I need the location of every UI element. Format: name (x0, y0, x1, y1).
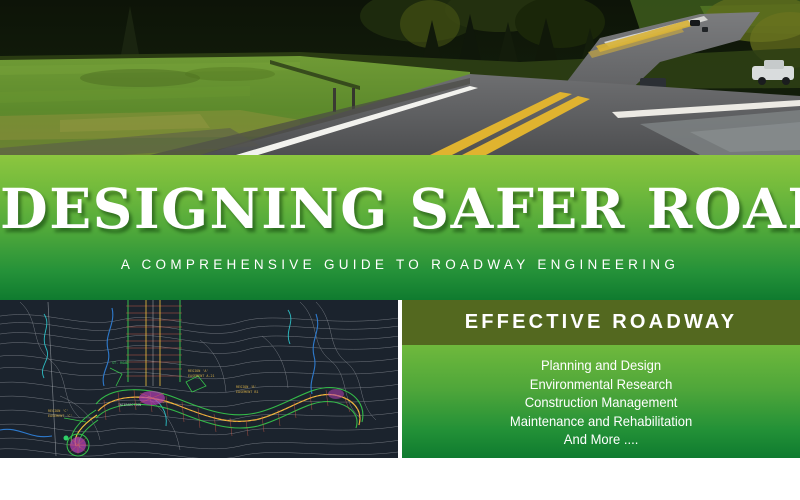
svg-text:REGION 'C': REGION 'C' (48, 409, 68, 413)
panel-service-list: Planning and Design Environmental Resear… (402, 345, 800, 458)
svg-text:REGION 'B': REGION 'B' (236, 385, 256, 389)
list-item: Planning and Design (510, 356, 692, 375)
svg-text:REGION 'A': REGION 'A' (188, 369, 208, 373)
svg-text:EASEMENT A-21: EASEMENT A-21 (188, 374, 215, 378)
svg-text:EASEMENT 'C': EASEMENT 'C' (48, 414, 73, 418)
panel-heading-text: EFFECTIVE ROADWAY (465, 311, 738, 334)
cad-drawing-illustration: REGION 'A' EASEMENT A-21 REGION 'B' EASE… (0, 300, 402, 458)
hero-photo (0, 0, 800, 155)
list-item: Environmental Research (510, 375, 692, 394)
effective-roadway-panel: EFFECTIVE ROADWAY Planning and Design En… (402, 300, 800, 458)
page-subtitle: A COMPREHENSIVE GUIDE TO ROADWAY ENGINEE… (0, 257, 800, 272)
list-item: And More .... (510, 430, 692, 449)
title-band: DESIGNING SAFER ROADS A COMPREHENSIVE GU… (0, 155, 800, 300)
svg-text:ST. ROAD: ST. ROAD (112, 361, 128, 365)
svg-text:EASEMENT B1: EASEMENT B1 (236, 390, 258, 394)
svg-text:INTERSECTION: INTERSECTION (118, 403, 141, 407)
poster-root: DESIGNING SAFER ROADS A COMPREHENSIVE GU… (0, 0, 800, 500)
roadway-alignment-map: REGION 'A' EASEMENT A-21 REGION 'B' EASE… (0, 300, 402, 458)
footer: Brigen Consulting Achieve Success Togeth… (0, 458, 800, 500)
list-item: Construction Management (510, 393, 692, 412)
panel-heading-bar: EFFECTIVE ROADWAY (402, 300, 800, 345)
hero-photo-illustration (0, 0, 800, 155)
service-list: Planning and Design Environmental Resear… (503, 356, 699, 449)
page-title: DESIGNING SAFER ROADS (0, 179, 800, 239)
list-item: Maintenance and Rehabilitation (510, 412, 692, 431)
